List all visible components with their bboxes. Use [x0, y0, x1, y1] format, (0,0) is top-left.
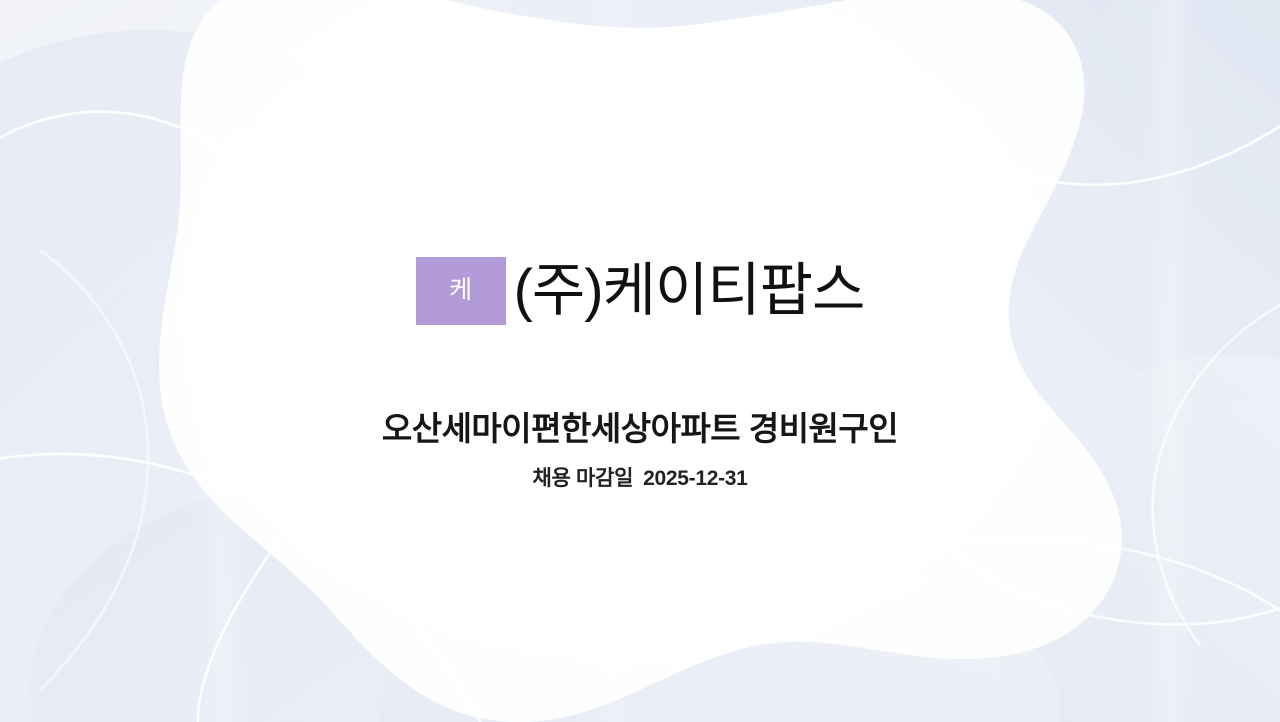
- poster-content: 케 (주)케이티팝스 오산세마이편한세상아파트 경비원구인 채용 마감일2025…: [0, 0, 1280, 722]
- company-logo-badge: 케: [416, 257, 506, 325]
- deadline-date: 2025-12-31: [643, 467, 747, 490]
- company-header: 케 (주)케이티팝스: [0, 243, 1280, 339]
- company-name: (주)케이티팝스: [514, 262, 865, 320]
- application-deadline: 채용 마감일2025-12-31: [0, 465, 1280, 492]
- job-posting-card: 케 (주)케이티팝스 오산세마이편한세상아파트 경비원구인 채용 마감일2025…: [0, 0, 1280, 722]
- deadline-label: 채용 마감일: [532, 467, 633, 490]
- job-title: 오산세마이편한세상아파트 경비원구인: [0, 408, 1280, 449]
